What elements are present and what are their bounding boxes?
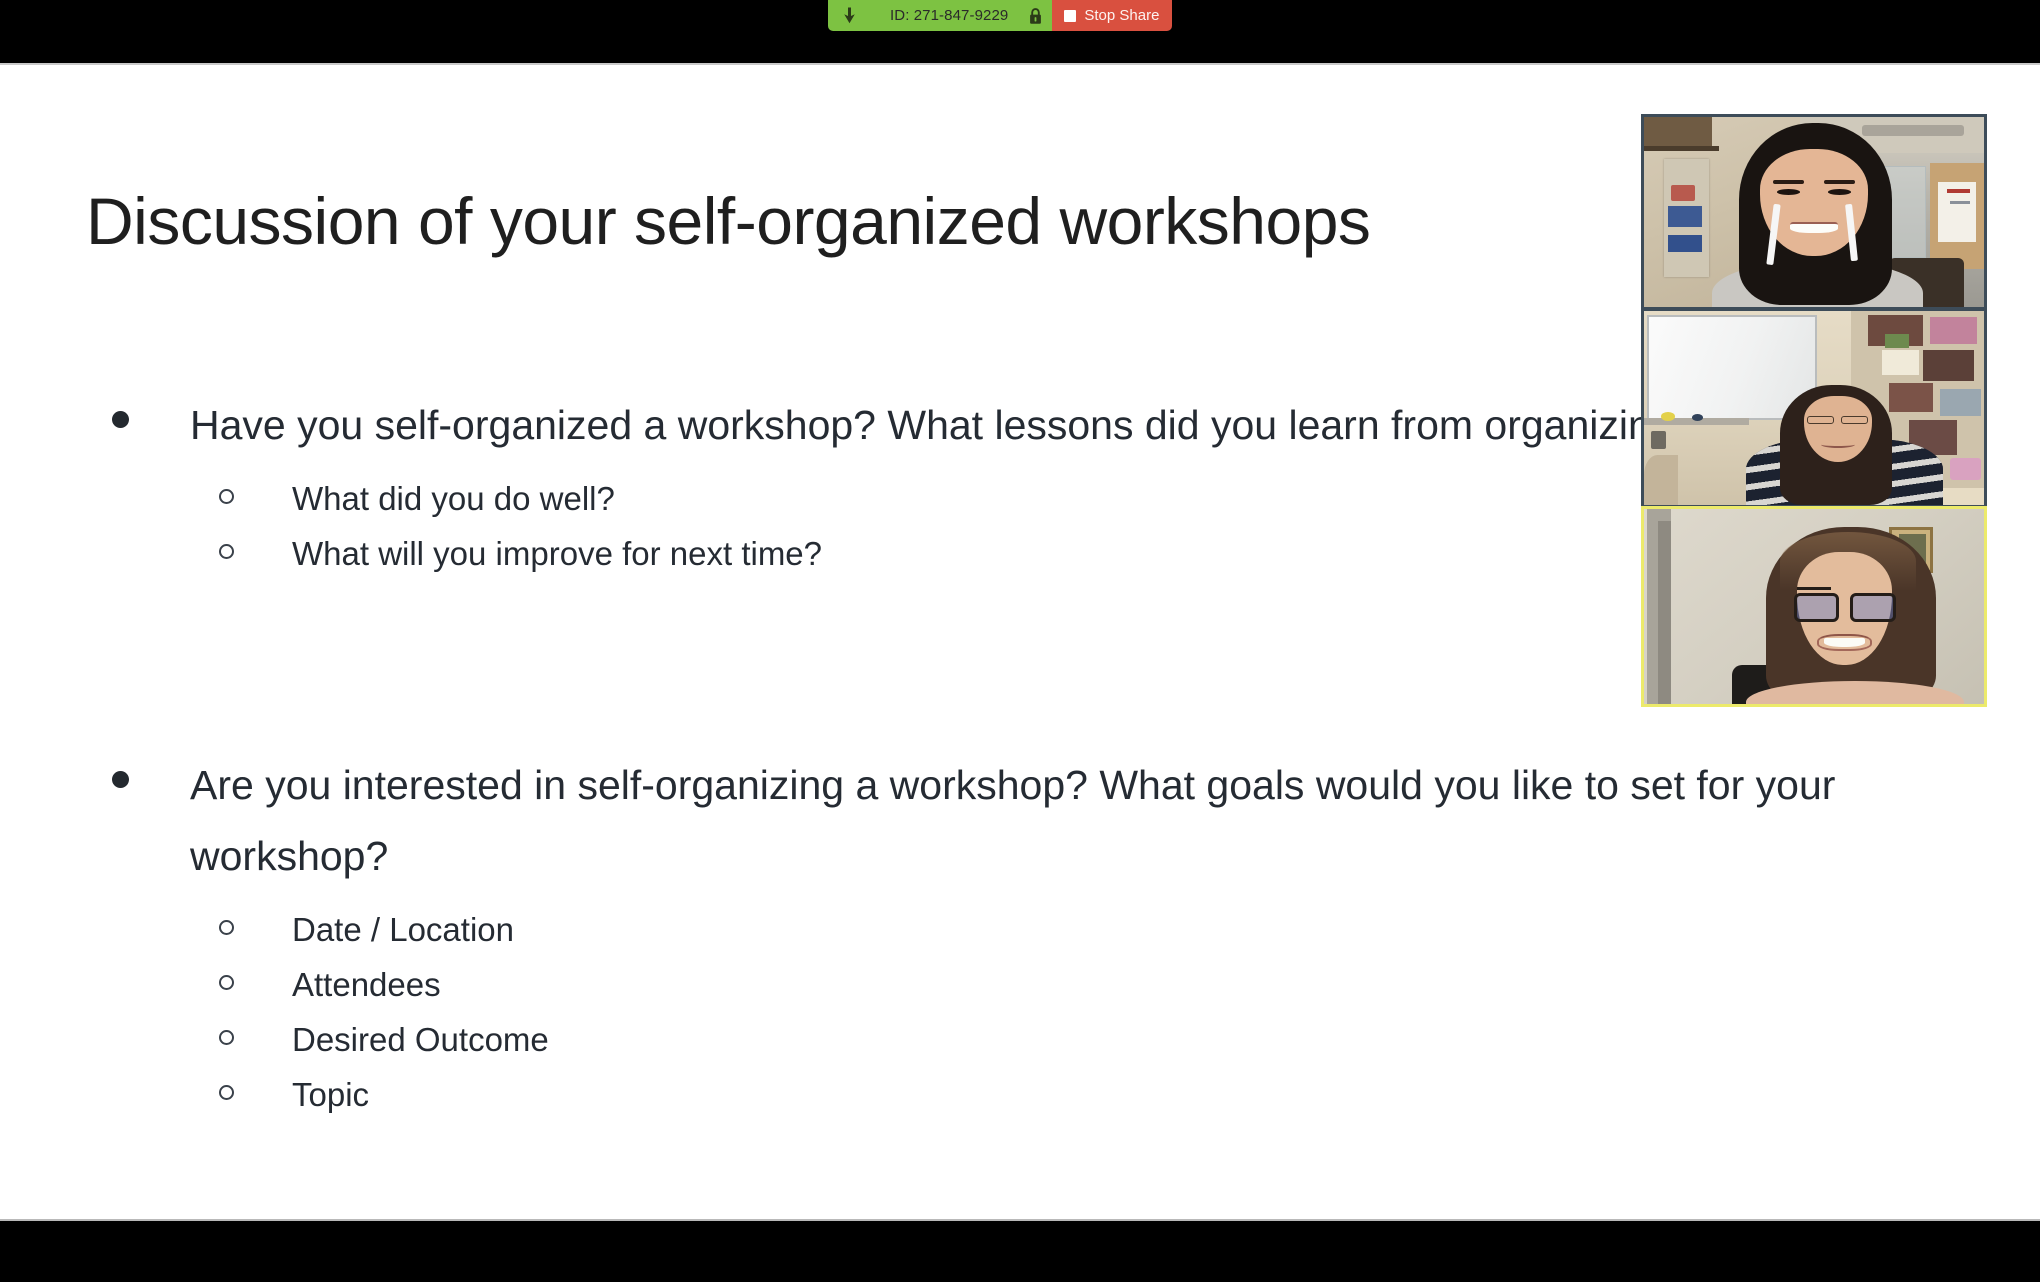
screen-share-toolbar[interactable]: ID: 271-847-9229 Stop Share xyxy=(828,0,1172,31)
sub-bullet-text: What will you improve for next time? xyxy=(292,535,822,572)
sub-bullet-text: Date / Location xyxy=(292,911,514,948)
bullet-block-2: Are you interested in self-organizing a … xyxy=(0,750,2040,1122)
list-item: Attendees xyxy=(0,957,2040,1012)
letterbox-bottom xyxy=(0,1221,2040,1282)
sub-bullet-text: Topic xyxy=(292,1076,369,1113)
sub-bullet-text: What did you do well? xyxy=(292,480,615,517)
hollow-circle-icon xyxy=(219,544,234,559)
hollow-circle-icon xyxy=(219,975,234,990)
bullet-item: Are you interested in self-organizing a … xyxy=(0,750,2040,892)
list-item: Date / Location xyxy=(0,902,2040,957)
hollow-circle-icon xyxy=(219,489,234,504)
participant-video-1[interactable] xyxy=(1641,114,1987,310)
bullet-dot-icon xyxy=(112,411,129,428)
bullet-dot-icon xyxy=(112,771,129,788)
video-feed xyxy=(1644,311,1984,505)
hollow-circle-icon xyxy=(219,1085,234,1100)
list-item: Topic xyxy=(0,1067,2040,1122)
sub-bullet-text: Attendees xyxy=(292,966,441,1003)
stop-share-label: Stop Share xyxy=(1084,0,1159,31)
sub-bullet-list: Date / Location Attendees Desired Outcom… xyxy=(0,902,2040,1122)
zoom-screen-share-view: Discussion of your self-organized worksh… xyxy=(0,0,2040,1282)
hollow-circle-icon xyxy=(219,1030,234,1045)
video-feed xyxy=(1644,509,1984,704)
participant-video-filmstrip[interactable] xyxy=(1641,114,1987,707)
down-arrow-icon[interactable] xyxy=(834,0,864,31)
hollow-circle-icon xyxy=(219,920,234,935)
bullet-text: Are you interested in self-organizing a … xyxy=(190,750,1920,892)
meeting-id-label: ID: 271-847-9229 xyxy=(864,0,1022,31)
participant-video-3[interactable] xyxy=(1641,506,1987,707)
stop-share-button[interactable]: Stop Share xyxy=(1052,0,1172,31)
list-item: Desired Outcome xyxy=(0,1012,2040,1067)
meeting-info-group: ID: 271-847-9229 xyxy=(828,0,1052,31)
sub-bullet-text: Desired Outcome xyxy=(292,1021,549,1058)
participant-video-2[interactable] xyxy=(1641,308,1987,508)
lock-icon[interactable] xyxy=(1022,0,1052,31)
stop-square-icon xyxy=(1064,10,1076,22)
video-feed xyxy=(1644,117,1984,307)
